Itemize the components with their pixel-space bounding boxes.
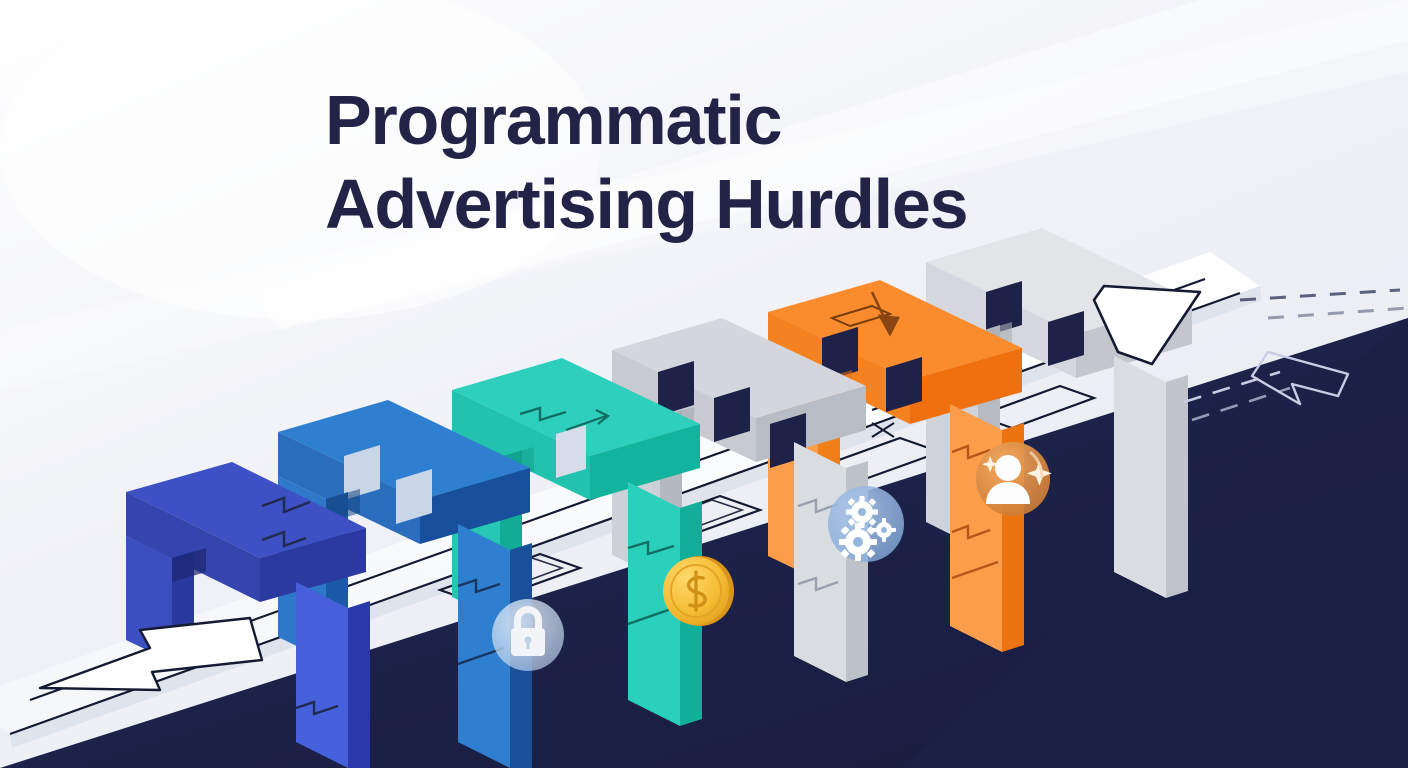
illustration-canvas: Programmatic Advertising Hurdles bbox=[0, 0, 1408, 768]
hurdle-block bbox=[556, 425, 586, 478]
hurdle-leg-side bbox=[1166, 375, 1188, 598]
hurdle-leg-front bbox=[950, 404, 1002, 652]
page-title: Programmatic Advertising Hurdles bbox=[325, 78, 1185, 246]
page-title-line-1: Programmatic bbox=[325, 78, 1185, 162]
coin-badge bbox=[663, 556, 734, 626]
person-badge bbox=[976, 442, 1052, 516]
progress-arrow-icon bbox=[1184, 352, 1348, 420]
page-title-line-2: Advertising Hurdles bbox=[325, 162, 1185, 246]
dashed-trail bbox=[1240, 290, 1408, 318]
track-arrow-icon bbox=[40, 618, 262, 690]
hurdle-leg-front bbox=[1114, 356, 1166, 598]
lock-badge bbox=[492, 599, 564, 671]
hurdle-leg-front bbox=[794, 442, 846, 682]
hurdle-leg-front bbox=[296, 582, 348, 768]
hurdle-leg-side bbox=[348, 601, 370, 768]
gears-badge bbox=[828, 486, 904, 562]
